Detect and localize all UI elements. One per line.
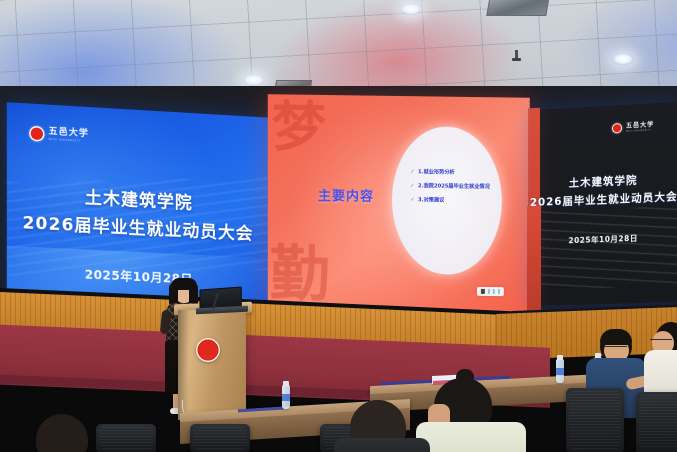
- audience-hair-bun: [456, 369, 474, 385]
- center-screen-section-title: 主要内容: [318, 185, 374, 205]
- ceiling-downlight-icon: [612, 54, 634, 65]
- bar-icon: [498, 289, 500, 294]
- check-icon: ✓: [410, 168, 415, 175]
- audience-member: [340, 400, 426, 452]
- center-screen-watermark: 勤: [270, 244, 330, 305]
- bottle-cap: [557, 355, 563, 360]
- left-screen-logo: 五邑大学 WUYI UNIVERSITY: [29, 126, 89, 144]
- agenda-item-text: 3.对策建议: [418, 196, 444, 203]
- right-screen-panel: 五邑大学 WUYI UNIVERSITY 土木建筑学院 2026届毕业生就业动员…: [529, 102, 677, 306]
- center-screen-panel: 梦 勤 主要内容 ✓ 1.就业形势分析 ✓ 2.我院2025届毕业生就业情况 ✓…: [268, 94, 530, 312]
- bar-icon: [493, 289, 495, 294]
- university-seal-icon: [196, 338, 220, 362]
- left-screen-panel: 五邑大学 WUYI UNIVERSITY 土木建筑学院 2026届毕业生就业动员…: [7, 102, 269, 318]
- chair-mesh: [193, 427, 247, 449]
- ceiling-downlight-icon: [400, 4, 422, 15]
- sprinkler-icon: [515, 50, 518, 61]
- list-item: ✓ 2.我院2025届毕业生就业情况: [410, 182, 490, 190]
- center-screen-watermark: 梦: [272, 100, 326, 155]
- ceiling-downlight-icon: [243, 75, 265, 86]
- audience-chair: [636, 392, 677, 452]
- bottle-label: [556, 368, 564, 375]
- front-chair: [96, 424, 156, 452]
- audience-head: [36, 414, 88, 452]
- water-bottle: [282, 385, 290, 409]
- glasses-icon: [601, 346, 627, 349]
- check-icon: ✓: [410, 182, 415, 189]
- chair-mesh: [99, 427, 153, 449]
- list-item: ✓ 3.对策建议: [410, 196, 490, 204]
- side-wall-red-panel: [527, 206, 541, 319]
- list-item: ✓ 1.就业形势分析: [410, 168, 490, 176]
- lecture-hall-photo: 五邑大学 WUYI UNIVERSITY 土木建筑学院 2026届毕业生就业动员…: [0, 0, 677, 452]
- right-screen-logo-en: WUYI UNIVERSITY: [626, 129, 654, 132]
- left-screen-logo-en: WUYI UNIVERSITY: [48, 138, 88, 143]
- ceiling-vent-icon: [486, 0, 550, 16]
- bottle-label: [282, 394, 290, 401]
- audience-hair: [600, 329, 632, 345]
- right-screen-light-streaks: [529, 204, 677, 291]
- audience-torso: [416, 422, 526, 452]
- university-seal-icon: [612, 123, 622, 134]
- check-icon: ✓: [410, 196, 415, 203]
- screen-icon: [481, 289, 485, 294]
- front-chair: [190, 424, 250, 452]
- glasses-icon: [650, 339, 672, 342]
- slide-control-widget[interactable]: [477, 287, 504, 296]
- audience-chair: [566, 388, 624, 452]
- agenda-item-text: 1.就业形势分析: [418, 168, 455, 175]
- university-seal-icon: [29, 126, 44, 142]
- audience-member: [28, 414, 102, 452]
- chair-mesh: [569, 391, 621, 449]
- agenda-item-text: 2.我院2025届毕业生就业情况: [418, 182, 490, 190]
- right-screen-logo: 五邑大学 WUYI UNIVERSITY: [612, 121, 654, 133]
- led-video-wall: 五邑大学 WUYI UNIVERSITY 土木建筑学院 2026届毕业生就业动员…: [0, 92, 677, 324]
- water-bottle: [556, 359, 564, 383]
- bar-icon: [488, 289, 490, 294]
- audience-torso: [334, 438, 430, 452]
- audience-member: [420, 378, 530, 452]
- bottle-cap: [283, 381, 289, 386]
- chair-mesh: [639, 395, 677, 449]
- center-screen-agenda-list: ✓ 1.就业形势分析 ✓ 2.我院2025届毕业生就业情况 ✓ 3.对策建议: [410, 168, 490, 211]
